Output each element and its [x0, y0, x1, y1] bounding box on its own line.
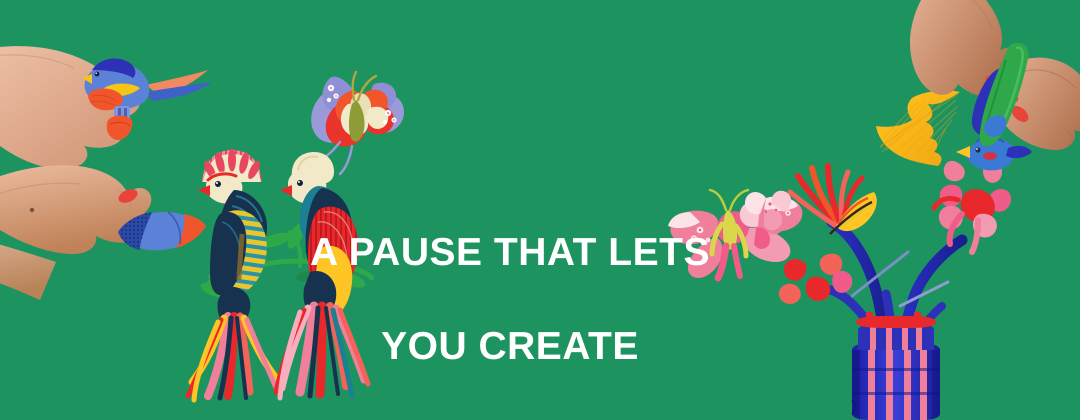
page-title: A PAUSE THAT LETS YOU CREATE — [300, 182, 720, 417]
headline-line-1: A PAUSE THAT LETS — [300, 229, 720, 276]
paper-vase — [852, 312, 940, 420]
hero-banner: A PAUSE THAT LETS YOU CREATE — [0, 0, 1080, 420]
headline-line-2: YOU CREATE — [300, 323, 720, 370]
